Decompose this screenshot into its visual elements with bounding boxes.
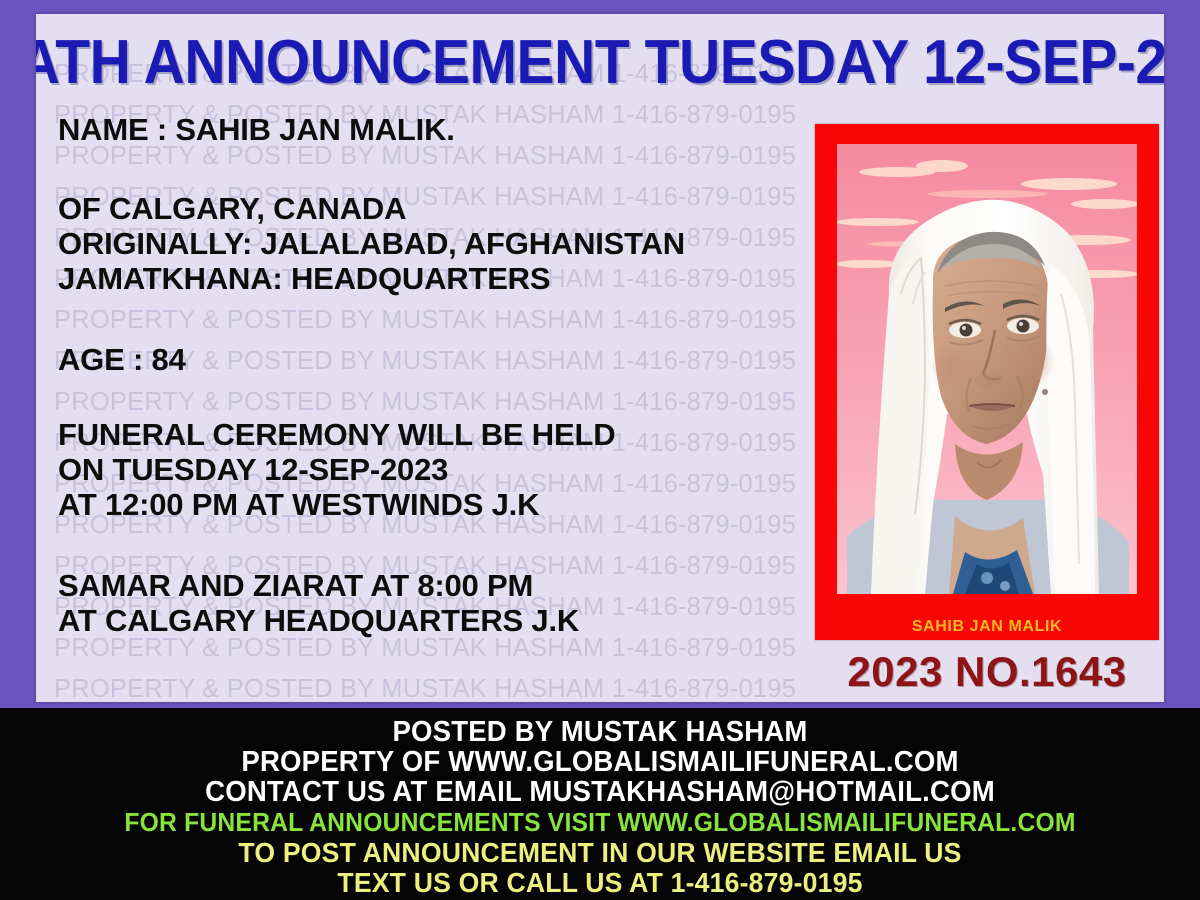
poster-paper-area: PROPERTY & POSTED BY MUSTAK HASHAM 1-416… bbox=[36, 14, 1164, 702]
poster-upper-region: PROPERTY & POSTED BY MUSTAK HASHAM 1-416… bbox=[0, 0, 1200, 708]
portrait-frame: SAHIB JAN MALIK bbox=[815, 124, 1159, 640]
title-bar: DEATH ANNOUNCEMENT TUESDAY 12-SEP-2023 bbox=[36, 14, 1164, 110]
footer-line-property-of: PROPERTY OF WWW.GLOBALISMAILIFUNERAL.COM bbox=[30, 747, 1170, 777]
detail-residence: OF CALGARY, CANADA bbox=[58, 191, 818, 226]
detail-age: AGE : 84 bbox=[58, 342, 818, 377]
funeral-line-2: ON TUESDAY 12-SEP-2023 bbox=[58, 452, 818, 487]
page-title: DEATH ANNOUNCEMENT TUESDAY 12-SEP-2023 bbox=[36, 27, 1164, 98]
samar-line-2: AT CALGARY HEADQUARTERS J.K bbox=[58, 603, 818, 638]
portrait-image bbox=[837, 144, 1137, 594]
footer-line-visit-website: FOR FUNERAL ANNOUNCEMENTS VISIT WWW.GLOB… bbox=[30, 807, 1170, 838]
portrait-caption: SAHIB JAN MALIK bbox=[815, 618, 1159, 636]
footer-line-post-announcement: TO POST ANNOUNCEMENT IN OUR WEBSITE EMAI… bbox=[30, 838, 1170, 868]
detail-name: NAME : SAHIB JAN MALIK. bbox=[58, 112, 818, 147]
footer-line-contact-email: CONTACT US AT EMAIL MUSTAKHASHAM@HOTMAIL… bbox=[30, 777, 1170, 807]
footer-line-phone: TEXT US OR CALL US AT 1-416-879-0195 bbox=[30, 868, 1170, 898]
portrait-photo bbox=[837, 144, 1137, 594]
funeral-line-3: AT 12:00 PM AT WESTWINDS J.K bbox=[58, 487, 818, 522]
watermark-line: PROPERTY & POSTED BY MUSTAK HASHAM 1-416… bbox=[54, 634, 796, 663]
footer-line-posted-by: POSTED BY MUSTAK HASHAM bbox=[30, 708, 1170, 747]
deceased-details: NAME : SAHIB JAN MALIK. OF CALGARY, CANA… bbox=[58, 112, 818, 638]
poster-footer: POSTED BY MUSTAK HASHAM PROPERTY OF WWW.… bbox=[0, 708, 1200, 900]
funeral-line-1: FUNERAL CEREMONY WILL BE HELD bbox=[58, 417, 818, 452]
watermark-line: PROPERTY & POSTED BY MUSTAK HASHAM 1-416… bbox=[54, 675, 796, 702]
samar-line-1: SAMAR AND ZIARAT AT 8:00 PM bbox=[58, 568, 818, 603]
death-announcement-poster: PROPERTY & POSTED BY MUSTAK HASHAM 1-416… bbox=[0, 0, 1200, 900]
detail-origin: ORIGINALLY: JALALABAD, AFGHANISTAN bbox=[58, 226, 818, 261]
reference-number: 2023 NO.1643 bbox=[815, 648, 1159, 696]
detail-jamatkhana: JAMATKHANA: HEADQUARTERS bbox=[58, 261, 818, 296]
